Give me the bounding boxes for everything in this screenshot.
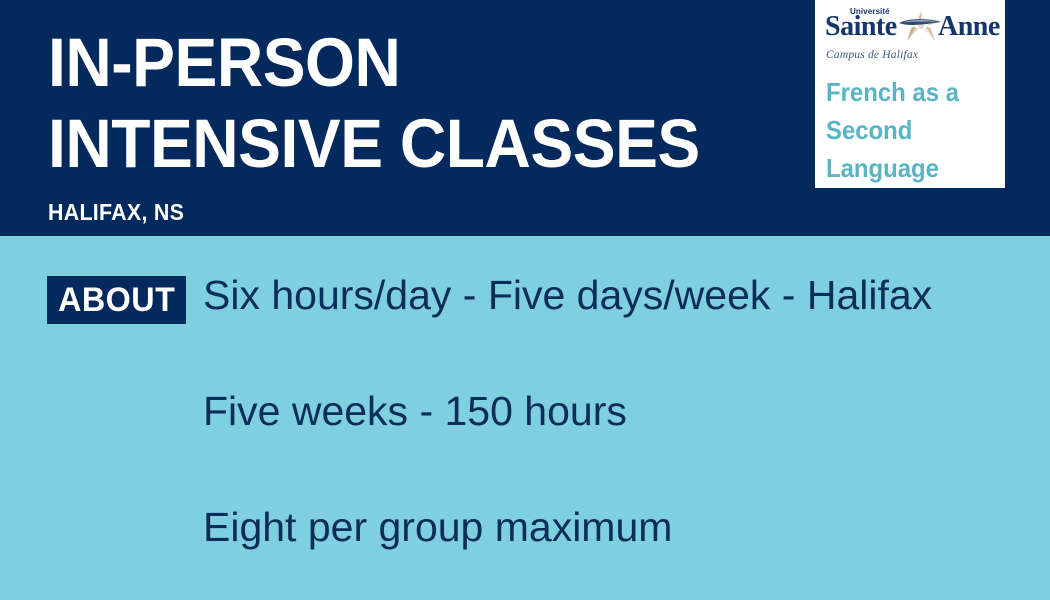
program-line-1: French as a bbox=[826, 73, 983, 111]
slide-canvas: IN-PERSON INTENSIVE CLASSES HALIFAX, NS … bbox=[0, 0, 1050, 600]
program-line-2: Second bbox=[826, 111, 983, 149]
page-title-line-1: IN-PERSON bbox=[48, 22, 755, 103]
logo-wordmark-sainte: Sainte bbox=[825, 12, 897, 42]
logo-wordmark-anne: Anne bbox=[938, 12, 1000, 42]
about-detail-line-1: Six hours/day - Five days/week - Halifax bbox=[203, 266, 1043, 324]
about-detail-list: Six hours/day - Five days/week - Halifax… bbox=[203, 266, 1043, 556]
header-band: IN-PERSON INTENSIVE CLASSES HALIFAX, NS … bbox=[0, 0, 1050, 236]
logo-campus-line: Campus de Halifax bbox=[826, 49, 997, 61]
about-detail-line-3: Eight per group maximum bbox=[203, 498, 1043, 556]
page-subtitle: HALIFAX, NS bbox=[48, 199, 755, 226]
logo-card: Université Sainte bbox=[815, 0, 1005, 188]
about-badge-label: ABOUT bbox=[58, 283, 175, 317]
page-title-line-2: INTENSIVE CLASSES bbox=[48, 103, 755, 184]
about-detail-line-2: Five weeks - 150 hours bbox=[203, 382, 1043, 440]
logo-program-name: French as a Second Language bbox=[826, 73, 997, 187]
program-line-3: Language bbox=[826, 149, 983, 187]
logo-wordmark: Université Sainte bbox=[823, 6, 997, 46]
title-block: IN-PERSON INTENSIVE CLASSES HALIFAX, NS bbox=[48, 22, 808, 226]
about-badge: ABOUT bbox=[47, 276, 186, 324]
